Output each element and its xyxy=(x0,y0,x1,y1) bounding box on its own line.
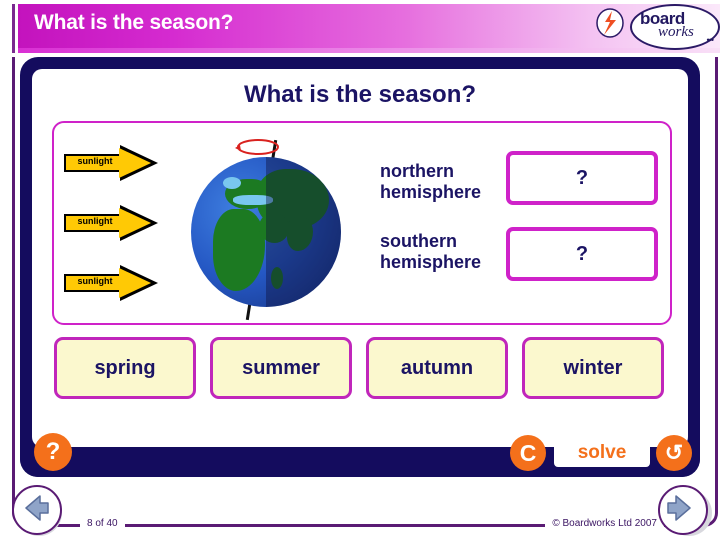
clear-button[interactable]: C xyxy=(510,435,546,471)
sunlight-label: sunlight xyxy=(68,156,122,166)
footer-left-rule xyxy=(12,57,42,527)
solve-button[interactable]: solve xyxy=(554,439,650,467)
page-counter: 8 of 40 xyxy=(80,518,125,529)
landmass-africa xyxy=(213,209,265,291)
drop-zone-southern[interactable]: ? xyxy=(506,227,658,281)
northern-hemisphere-label: northern hemisphere xyxy=(380,161,481,203)
copyright-notice: © Boardworks Ltd 2007 xyxy=(545,518,664,529)
rotation-arrow-icon xyxy=(234,137,282,157)
page-title: What is the season? xyxy=(34,11,233,35)
next-page-button[interactable] xyxy=(658,485,708,535)
drop-zone-northern[interactable]: ? xyxy=(506,151,658,205)
flash-logo-icon xyxy=(596,8,624,38)
earth-sphere xyxy=(191,157,341,307)
arrow-head-fill xyxy=(119,148,151,178)
logo-dots: ••• xyxy=(707,35,713,45)
activity-title: What is the season? xyxy=(32,81,688,109)
season-card-spring[interactable]: spring xyxy=(54,337,196,399)
arrow-head-fill xyxy=(119,208,151,238)
north-sea xyxy=(223,177,241,189)
header-left-accent-bar xyxy=(12,4,15,53)
diagram-panel: sunlight sunlight sunlight xyxy=(52,121,672,325)
hemi-label-line2: hemisphere xyxy=(380,252,481,273)
boardworks-logo: board works ••• xyxy=(630,4,720,50)
arrow-head-fill xyxy=(119,268,151,298)
season-card-winter[interactable]: winter xyxy=(522,337,664,399)
sunlight-label: sunlight xyxy=(68,216,122,226)
next-arrow-icon xyxy=(660,487,702,529)
activity-canvas: What is the season? sunlight sunlight su… xyxy=(32,69,688,447)
hemi-label-line1: northern xyxy=(380,161,481,182)
night-side-shading xyxy=(266,157,341,307)
prev-page-button[interactable] xyxy=(12,485,62,535)
season-card-autumn[interactable]: autumn xyxy=(366,337,508,399)
earth-globe-icon xyxy=(176,137,356,317)
sunlight-label: sunlight xyxy=(68,276,122,286)
sunlight-arrow-icon: sunlight xyxy=(64,145,160,181)
header-underline xyxy=(18,48,720,53)
footer-right-rule xyxy=(688,57,718,527)
sunlight-arrow-icon: sunlight xyxy=(64,265,160,301)
prev-arrow-icon xyxy=(14,487,56,529)
hemi-label-line1: southern xyxy=(380,231,481,252)
reset-button[interactable]: ↺ xyxy=(656,435,692,471)
activity-frame: What is the season? sunlight sunlight su… xyxy=(20,57,700,477)
southern-hemisphere-label: southern hemisphere xyxy=(380,231,481,273)
activity-toolbar: ? C solve ↺ xyxy=(20,447,700,477)
sunlight-arrow-icon: sunlight xyxy=(64,205,160,241)
hemi-label-line2: hemisphere xyxy=(380,182,481,203)
logo-works-text: works xyxy=(658,24,694,41)
season-card-summer[interactable]: summer xyxy=(210,337,352,399)
